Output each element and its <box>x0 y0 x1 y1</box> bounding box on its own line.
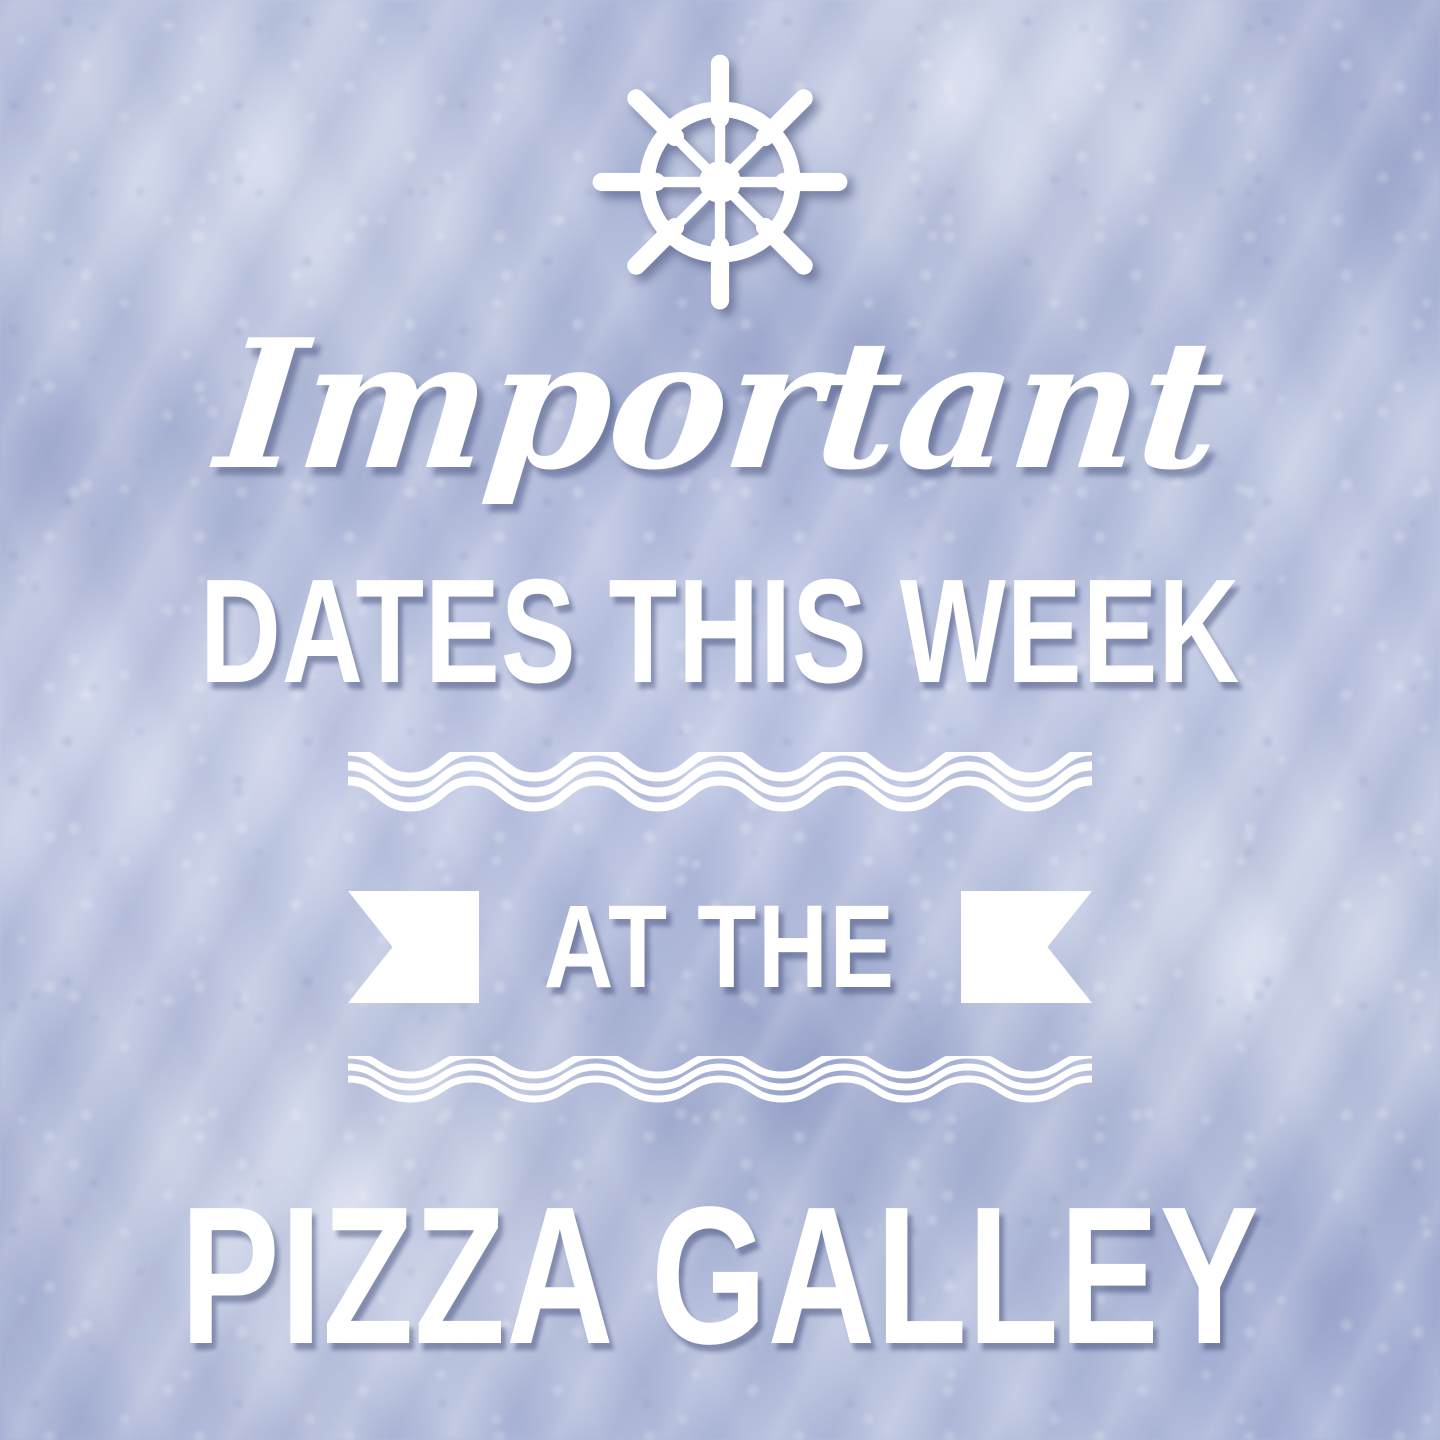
banner-label: AT THE <box>544 888 896 1006</box>
poster-content: Important DATES THIS WEEK AT THE <box>0 0 1440 1440</box>
headline-subtitle: DATES THIS WEEK <box>173 558 1267 706</box>
venue-name: PIZZA GALLEY <box>173 1178 1267 1374</box>
wave-divider-top-icon <box>348 752 1092 820</box>
headline-script: Important <box>0 316 1440 494</box>
wave-divider-bottom-icon <box>348 1056 1092 1108</box>
banner-row: AT THE <box>348 884 1092 1010</box>
ribbon-flag-right-icon <box>961 891 1092 1003</box>
ribbon-flag-left-icon <box>348 891 479 1003</box>
poster-canvas: Important DATES THIS WEEK AT THE <box>0 0 1440 1440</box>
ships-wheel-icon <box>590 52 850 312</box>
